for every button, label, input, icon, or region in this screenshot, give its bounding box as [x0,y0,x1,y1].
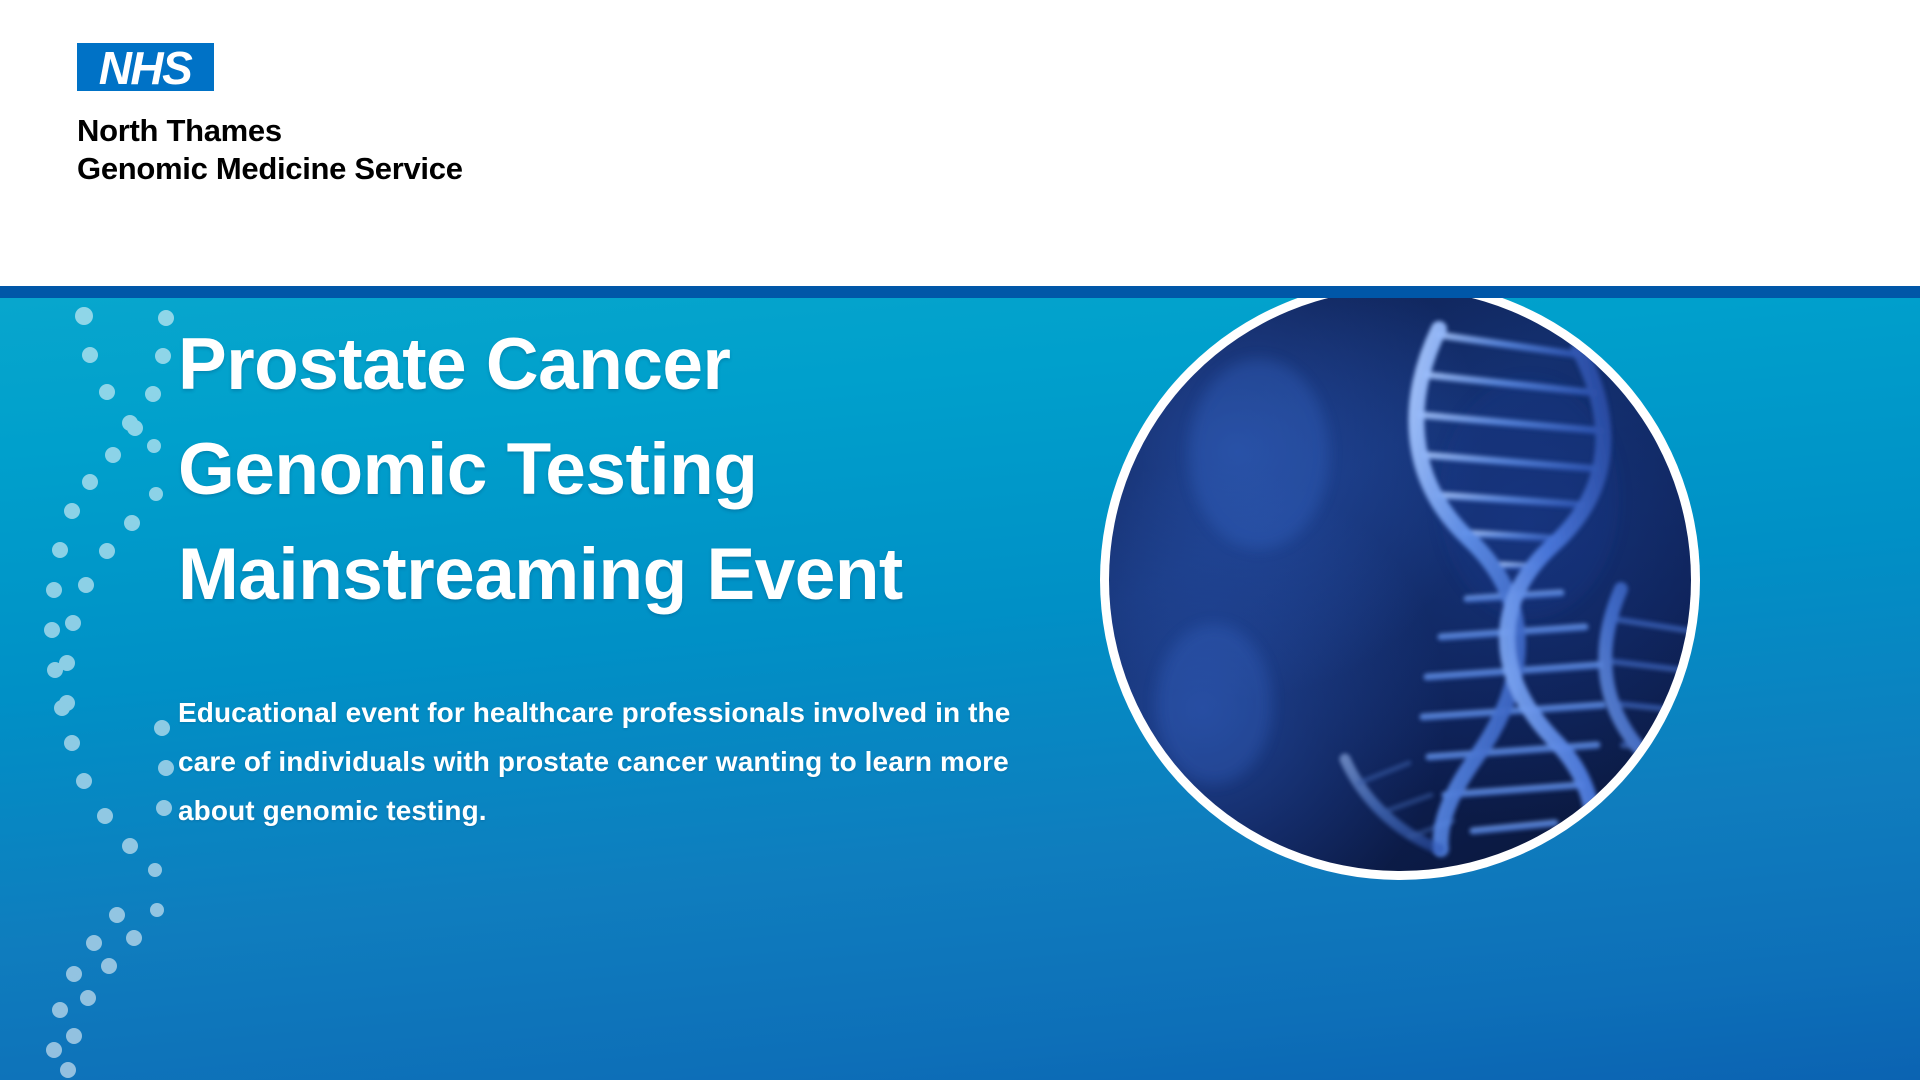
dna-double-helix-photo [1109,298,1691,871]
dna-photo-circle [1100,298,1700,880]
nhs-logo: NHS [77,43,214,91]
banner-text-column: Prostate Cancer Genomic Testing Mainstre… [178,298,1078,1080]
nhs-brand-lockup: NHS North Thames Genomic Medicine Servic… [77,43,777,188]
event-banner: Prostate Cancer Genomic Testing Mainstre… [0,298,1920,1080]
event-title-line-3: Mainstreaming Event [178,522,1078,627]
organisation-name: North Thames Genomic Medicine Service [77,112,777,188]
event-title-line-1: Prostate Cancer [178,312,1078,417]
header-divider-bar [0,286,1920,298]
page-header: NHS North Thames Genomic Medicine Servic… [0,0,1920,286]
event-title: Prostate Cancer Genomic Testing Mainstre… [178,312,1078,627]
dna-dot-helix-icon [14,298,174,1080]
event-description: Educational event for healthcare profess… [178,688,1068,835]
event-title-line-2: Genomic Testing [178,417,1078,522]
svg-text:NHS: NHS [99,43,193,91]
